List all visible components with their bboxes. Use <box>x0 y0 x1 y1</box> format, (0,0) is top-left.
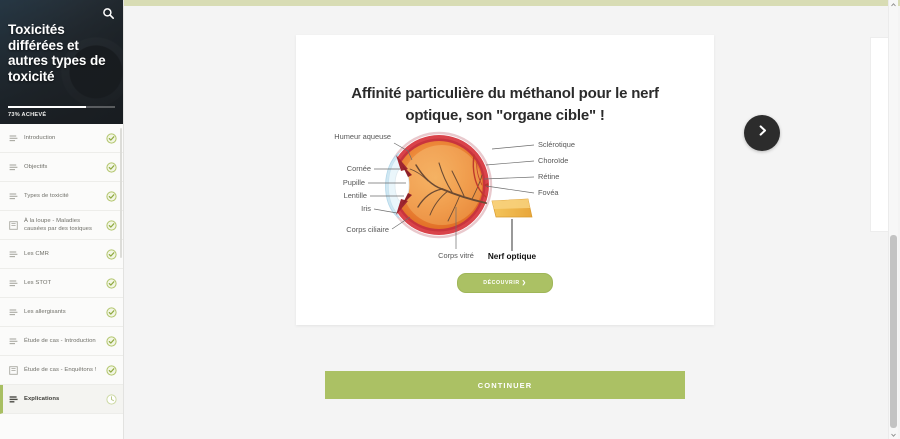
sidebar-scrollbar-thumb[interactable] <box>120 128 122 258</box>
status-badge-complete <box>105 132 117 144</box>
page-scrollbar[interactable] <box>888 0 898 439</box>
eye-anatomy-diagram: Humeur aqueuse Cornée Pupille Lentille I… <box>296 125 714 265</box>
status-badge-complete <box>105 306 117 318</box>
sidebar-item-label: Les STOT <box>24 279 105 287</box>
scroll-down-icon[interactable] <box>889 430 898 439</box>
sidebar-header: Toxicités différées et autres types de t… <box>0 0 123 124</box>
label-cornee: Cornée <box>347 164 371 173</box>
label-retine: Rétine <box>538 172 559 181</box>
slide-title: Affinité particulière du méthanol pour l… <box>322 83 688 127</box>
sidebar-item-1[interactable]: Introduction <box>0 124 123 153</box>
lesson-lines-icon <box>8 336 19 347</box>
discover-button[interactable]: DÉCOUVRIR ❯ <box>457 273 553 293</box>
continue-button-label: CONTINUER <box>478 381 532 390</box>
course-progress: 73% ACHEVÉ <box>8 106 115 118</box>
sidebar-item-10[interactable]: Explications <box>0 385 123 414</box>
label-lentille: Lentille <box>344 191 367 200</box>
discover-button-label: DÉCOUVRIR ❯ <box>483 280 527 286</box>
progress-label: 73% ACHEVÉ <box>8 112 115 118</box>
label-humeur-aqueuse: Humeur aqueuse <box>334 132 391 141</box>
label-iris: Iris <box>361 204 371 213</box>
top-progress-fill <box>124 0 900 6</box>
main-stage: Affinité particulière du méthanol pour l… <box>124 0 900 439</box>
label-corps-ciliaire: Corps ciliaire <box>346 225 389 234</box>
sidebar-item-8[interactable]: Étude de cas - Introduction <box>0 327 123 356</box>
sidebar-item-label: Explications <box>24 395 105 403</box>
progress-track <box>8 106 115 108</box>
slide-stage: Affinité particulière du méthanol pour l… <box>124 7 900 439</box>
status-badge-complete <box>105 248 117 260</box>
sidebar-item-label: Introduction <box>24 134 105 142</box>
lesson-lines-icon <box>8 249 19 260</box>
quiz-box-icon <box>8 365 19 376</box>
label-nerf-optique: Nerf optique <box>488 252 537 261</box>
status-badge-complete <box>105 277 117 289</box>
sidebar-item-9[interactable]: Étude de cas - Enquêtons ! <box>0 356 123 385</box>
label-sclerotique: Sclérotique <box>538 140 575 149</box>
continue-button[interactable]: CONTINUER <box>325 371 685 399</box>
search-icon[interactable] <box>99 4 117 22</box>
label-corps-vitre: Corps vitré <box>438 251 474 260</box>
elearning-player: Toxicités différées et autres types de t… <box>0 0 900 439</box>
sidebar-item-label: Étude de cas - Introduction <box>24 337 105 345</box>
lesson-bars-icon <box>8 394 19 405</box>
sidebar-item-label: Les allergisants <box>24 308 105 316</box>
lesson-lines-icon <box>8 278 19 289</box>
lesson-lines-icon <box>8 307 19 318</box>
sidebar-item-label: À la loupe - Maladies causées par des to… <box>24 217 105 233</box>
chevron-right-icon <box>756 124 769 142</box>
sidebar-scrollbar[interactable] <box>119 124 123 439</box>
status-badge-complete <box>105 161 117 173</box>
lesson-list[interactable]: IntroductionObjectifsTypes de toxicitéÀ … <box>0 124 123 439</box>
sidebar-item-7[interactable]: Les allergisants <box>0 298 123 327</box>
lesson-lines-icon <box>8 133 19 144</box>
course-title: Toxicités différées et autres types de t… <box>8 22 115 84</box>
course-sidebar: Toxicités différées et autres types de t… <box>0 0 124 439</box>
quiz-box-icon <box>8 220 19 231</box>
next-slide-button[interactable] <box>744 115 780 151</box>
status-badge-in-progress <box>105 393 117 405</box>
sidebar-item-label: Les CMR <box>24 250 105 258</box>
status-badge-complete <box>105 335 117 347</box>
slide-card: Affinité particulière du méthanol pour l… <box>296 35 714 325</box>
lesson-lines-icon <box>8 162 19 173</box>
status-badge-complete <box>105 190 117 202</box>
label-pupille: Pupille <box>343 178 365 187</box>
sidebar-item-5[interactable]: Les CMR <box>0 240 123 269</box>
sidebar-item-label: Étude de cas - Enquêtons ! <box>24 366 105 374</box>
scroll-up-icon[interactable] <box>889 0 898 9</box>
progress-fill <box>8 106 86 108</box>
sidebar-item-6[interactable]: Les STOT <box>0 269 123 298</box>
sidebar-item-4[interactable]: À la loupe - Maladies causées par des to… <box>0 211 123 240</box>
sidebar-item-3[interactable]: Types de toxicité <box>0 182 123 211</box>
sidebar-item-2[interactable]: Objectifs <box>0 153 123 182</box>
sidebar-item-label: Types de toxicité <box>24 192 105 200</box>
label-fovea: Fovéa <box>538 188 559 197</box>
label-choroide: Choroïde <box>538 156 568 165</box>
sidebar-item-label: Objectifs <box>24 163 105 171</box>
status-badge-complete <box>105 364 117 376</box>
page-scrollbar-thumb[interactable] <box>890 235 897 428</box>
lesson-lines-icon <box>8 191 19 202</box>
status-badge-complete <box>105 219 117 231</box>
